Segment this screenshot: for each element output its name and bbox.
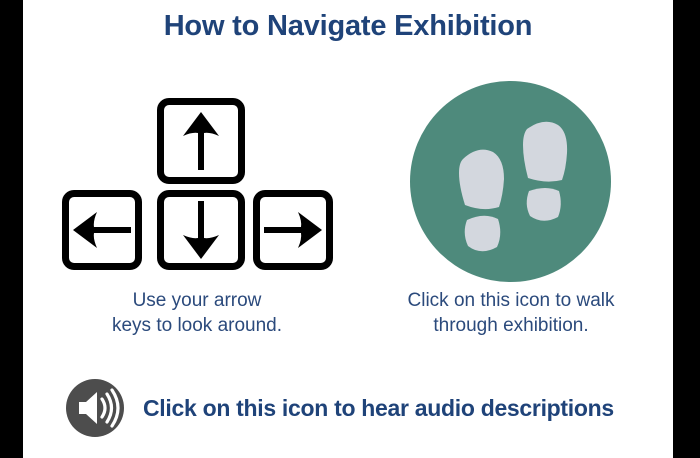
arrow-left-key[interactable]: [62, 190, 142, 270]
right-border-band: [673, 0, 700, 458]
walk-caption: Click on this icon to walk through exhib…: [382, 288, 640, 338]
footprints-icon: [410, 81, 611, 282]
audio-description-label: Click on this icon to hear audio descrip…: [143, 395, 614, 422]
arrow-up-icon: [176, 110, 226, 172]
walk-icon-button[interactable]: [410, 81, 611, 282]
arrow-right-key[interactable]: [253, 190, 333, 270]
arrow-down-key[interactable]: [157, 190, 245, 270]
arrow-keys-caption: Use your arrow keys to look around.: [72, 288, 322, 338]
page-title: How to Navigate Exhibition: [23, 10, 673, 43]
slide-canvas: How to Navigate Exhibition Use your arro…: [0, 0, 700, 458]
audio-icon-button[interactable]: [66, 379, 124, 437]
arrow-down-icon: [176, 199, 226, 261]
arrow-left-icon: [71, 205, 133, 255]
speaker-icon: [66, 379, 124, 437]
arrow-key-cluster: [60, 98, 335, 273]
arrow-right-icon: [262, 205, 324, 255]
arrow-up-key[interactable]: [157, 98, 245, 184]
audio-description-row[interactable]: Click on this icon to hear audio descrip…: [66, 379, 614, 437]
left-border-band: [0, 0, 23, 458]
